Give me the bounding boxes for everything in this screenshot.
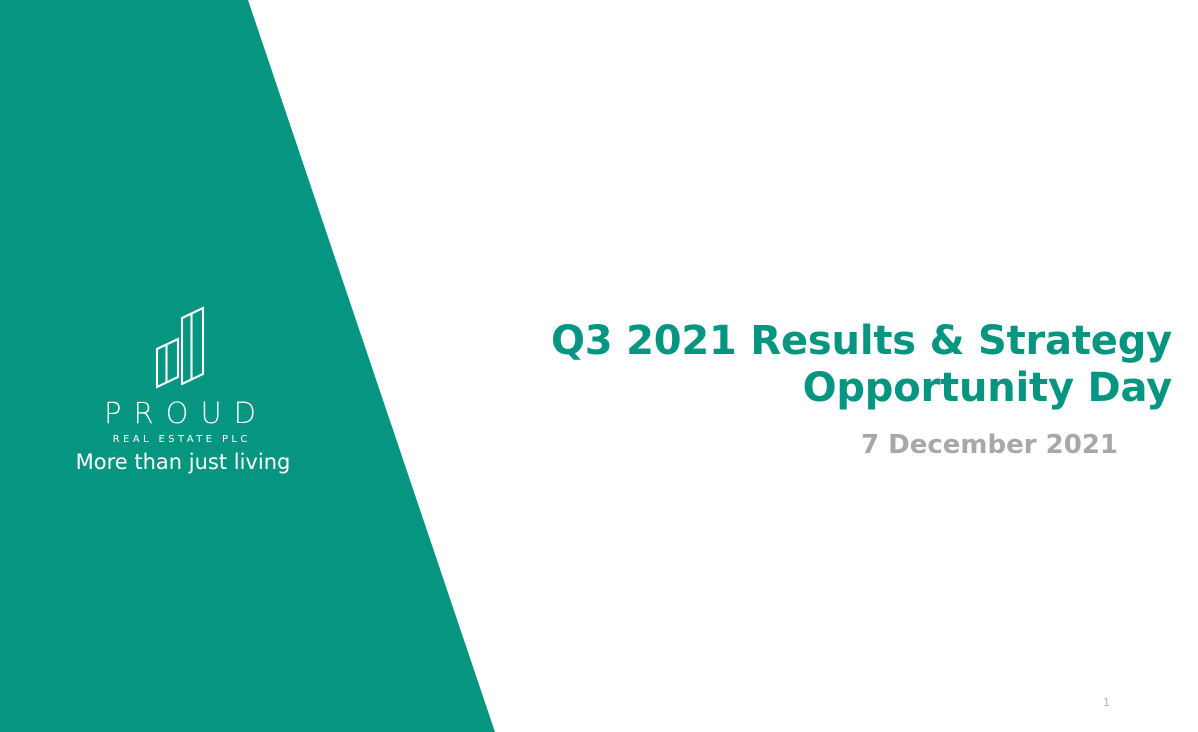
title-slide: PROUD REAL ESTATE PLC More than just liv… [0, 0, 1198, 732]
brand-panel [0, 0, 520, 732]
slide-date: 7 December 2021 [472, 431, 1172, 460]
page-number: 1 [1103, 697, 1110, 708]
slide-title: Q3 2021 Results & Strategy Opportunity D… [472, 318, 1172, 412]
slide-title-line-2: Opportunity Day [472, 365, 1172, 412]
brand-tagline: More than just living [0, 450, 366, 475]
title-block: Q3 2021 Results & Strategy Opportunity D… [472, 318, 1172, 460]
slide-title-line-1: Q3 2021 Results & Strategy [472, 318, 1172, 365]
